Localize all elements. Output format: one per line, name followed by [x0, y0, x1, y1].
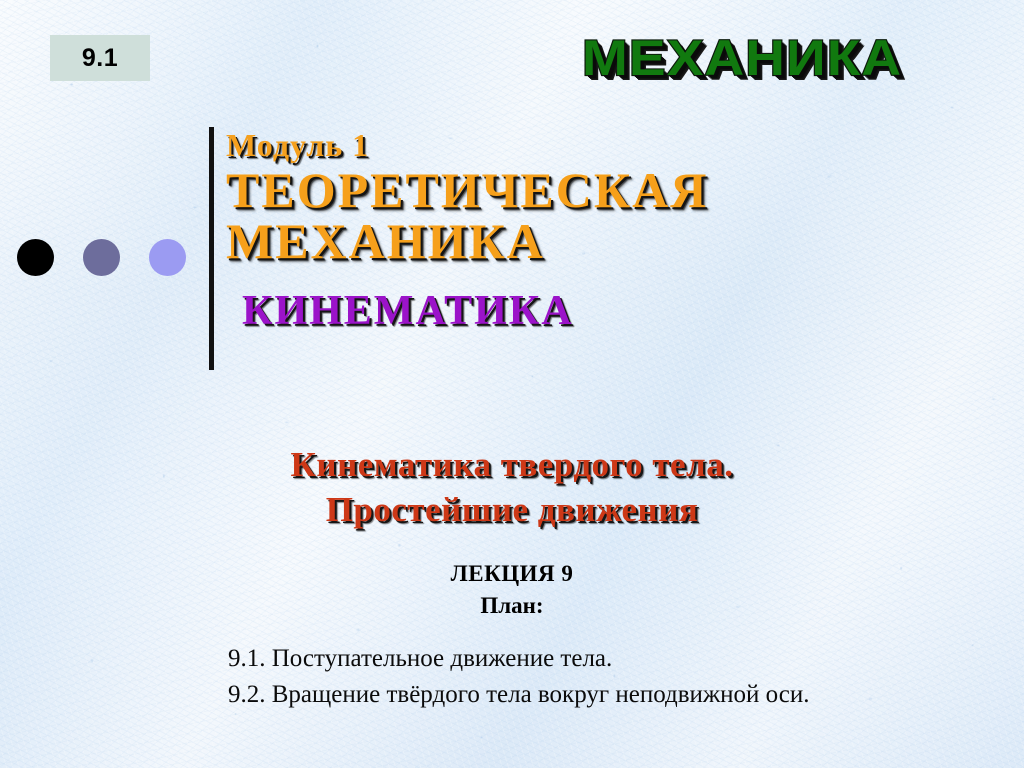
slide-number-badge: 9.1 — [50, 35, 150, 81]
circle-periwinkle-icon — [149, 239, 186, 276]
section-word-kinematika: КИНЕМАТИКА — [242, 290, 826, 332]
module-label: Модуль 1 — [226, 128, 826, 163]
decorative-circle-group — [17, 239, 186, 276]
subject-heading-line-1: Кинематика твердого тела. — [0, 443, 1024, 488]
plan-list-item: 9.1. Поступательное движение тела. — [228, 641, 988, 677]
slide-number-text: 9.1 — [82, 44, 118, 73]
title-block: Модуль 1 ТЕОРЕТИЧЕСКАЯ МЕХАНИКА КИНЕМАТИ… — [226, 128, 826, 332]
lecture-block: ЛЕКЦИЯ 9 План: — [0, 560, 1024, 619]
presentation-slide: 9.1 МЕХАНИКА Модуль 1 ТЕОРЕТИЧЕСКАЯ МЕХА… — [0, 0, 1024, 768]
wordart-heading-mehanika: МЕХАНИКА — [582, 33, 902, 83]
plan-list: 9.1. Поступательное движение тела. 9.2. … — [228, 641, 988, 712]
main-title-line-2: МЕХАНИКА — [226, 216, 826, 268]
title-vertical-rule — [209, 127, 214, 370]
main-title-line-1: ТЕОРЕТИЧЕСКАЯ — [226, 165, 826, 217]
plan-list-item: 9.2. Вращение твёрдого тела вокруг непод… — [228, 677, 988, 713]
lecture-label: ЛЕКЦИЯ 9 — [0, 560, 1024, 588]
circle-slate-icon — [83, 239, 120, 276]
subject-heading-line-2: Простейшие движения — [0, 488, 1024, 533]
circle-black-icon — [17, 239, 54, 276]
plan-label: План: — [0, 592, 1024, 620]
subject-heading: Кинематика твердого тела. Простейшие дви… — [0, 443, 1024, 533]
